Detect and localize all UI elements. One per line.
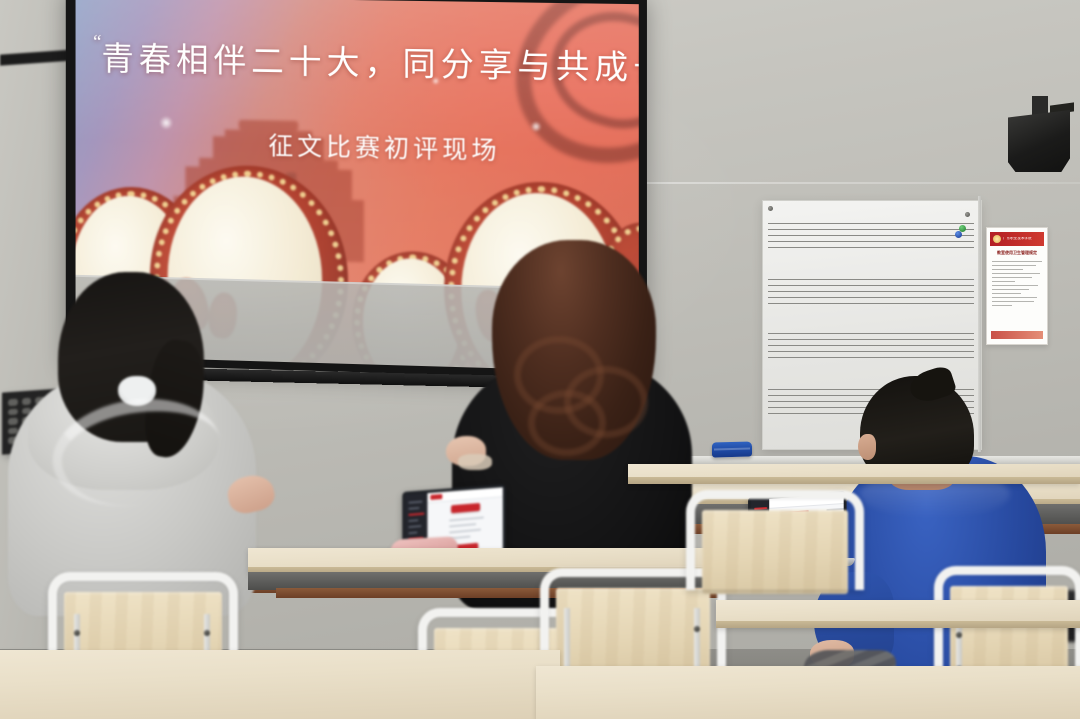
chair-behind-right-frame	[686, 490, 864, 590]
person-center-hair-wave-3	[528, 390, 606, 456]
desk-front-right	[536, 666, 1080, 719]
poster-title: 教室使用卫生管理规定	[992, 251, 1042, 256]
desk-upper-right	[628, 464, 1080, 484]
chair-right-bolt-a	[956, 632, 962, 638]
poster-seal-icon	[993, 235, 1001, 243]
chair-center-back-hinge-a	[564, 608, 570, 672]
desk-front-mid-right	[716, 600, 1080, 628]
classroom-scene: “青春相伴二十大，同分享与共成长” 征文比赛初评现场 广东职业技	[0, 0, 1080, 719]
slide-subtitle: 征文比赛初评现场	[268, 126, 500, 167]
desk-front-left	[0, 650, 560, 719]
chair-center-back-bolt	[694, 626, 700, 632]
chair-behind-right[interactable]	[686, 490, 864, 590]
laptop-center-app-logo	[430, 494, 442, 500]
chair-left-bolt-b	[204, 630, 210, 636]
laptop-center-primary-button[interactable]	[451, 503, 480, 513]
whiteboard-eraser[interactable]	[712, 441, 752, 457]
whiteboard-screw-top-left	[768, 206, 773, 211]
slide-title: “青春相伴二十大，同分享与共成长”	[93, 32, 633, 89]
chair-center-back-hinge-b	[694, 608, 700, 672]
staff-group-2	[768, 279, 974, 305]
person-left	[0, 280, 290, 620]
whiteboard-magnets[interactable]	[955, 225, 967, 239]
staff-group-1	[768, 223, 974, 249]
wall-poster: 广东职业技术学院 教室使用卫生管理规定	[986, 227, 1048, 345]
poster-footer-band	[991, 331, 1043, 339]
wall-speaker-icon	[1008, 110, 1070, 172]
poster-body-lines	[992, 261, 1042, 309]
poster-header-text: 广东职业技术学院	[1003, 237, 1032, 240]
staff-group-3	[768, 333, 974, 359]
whiteboard-screw-top-right	[965, 212, 970, 217]
person-center-sleeve-cuff	[458, 454, 492, 470]
slide-title-text: 青春相伴二十大，同分享与共成长	[101, 42, 638, 88]
poster-header: 广东职业技术学院	[990, 232, 1044, 246]
person-right-ear	[858, 434, 876, 460]
chair-left-bolt-a	[74, 630, 80, 636]
wall-seam-line	[630, 182, 1080, 184]
